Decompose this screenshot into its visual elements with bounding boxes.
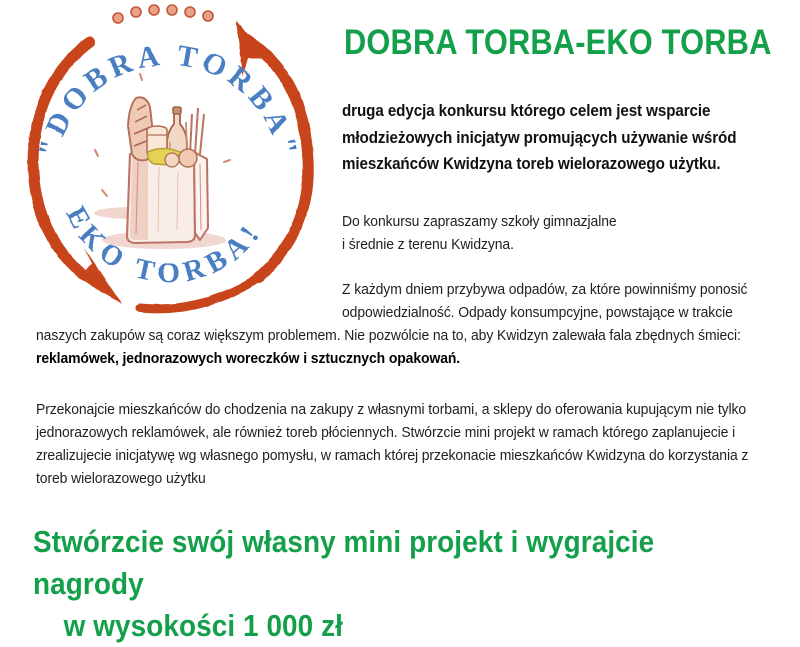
- bottle-cap-icon: [173, 107, 181, 114]
- groceries: [128, 97, 204, 167]
- waste-paragraph-wide: naszych zakupów są coraz większym proble…: [36, 324, 760, 370]
- fruit-icon: [179, 149, 197, 167]
- footer-cta-line1: Stwórzcie swój własny mini projekt i wyg…: [33, 524, 654, 601]
- poster-root: "DOBRA TORBA" EKO TORBA! DOBRA TORBA-EKO…: [0, 0, 800, 611]
- fruit-icon-2: [165, 153, 179, 167]
- footer-cta-line2: w wysokości 1 000 zł: [33, 605, 717, 647]
- berries-decoration: [113, 5, 213, 23]
- logo-svg: "DOBRA TORBA" EKO TORBA!: [12, 2, 324, 314]
- invite-text: Do konkursu zapraszamy szkoły gimnazjaln…: [342, 213, 617, 253]
- greens-icon: [186, 108, 204, 154]
- footer-cta: Stwórzcie swój własny mini projekt i wyg…: [33, 521, 717, 647]
- action-paragraph: Przekonajcie mieszkańców do chodzenia na…: [36, 398, 760, 490]
- waste-wide-line: naszych zakupów są coraz większym proble…: [36, 324, 760, 347]
- page-title: DOBRA TORBA-EKO TORBA: [344, 24, 740, 62]
- waste-bold-line: reklamówek, jednorazowych woreczków i sz…: [36, 347, 760, 370]
- waste-paragraph-start: Z każdym dniem przybywa odpadów, za któr…: [342, 278, 770, 324]
- logo-illustration: "DOBRA TORBA" EKO TORBA!: [12, 2, 324, 314]
- invite-paragraph: Do konkursu zapraszamy szkoły gimnazjaln…: [342, 210, 770, 256]
- lead-paragraph: druga edycja konkursu którego celem jest…: [342, 98, 758, 178]
